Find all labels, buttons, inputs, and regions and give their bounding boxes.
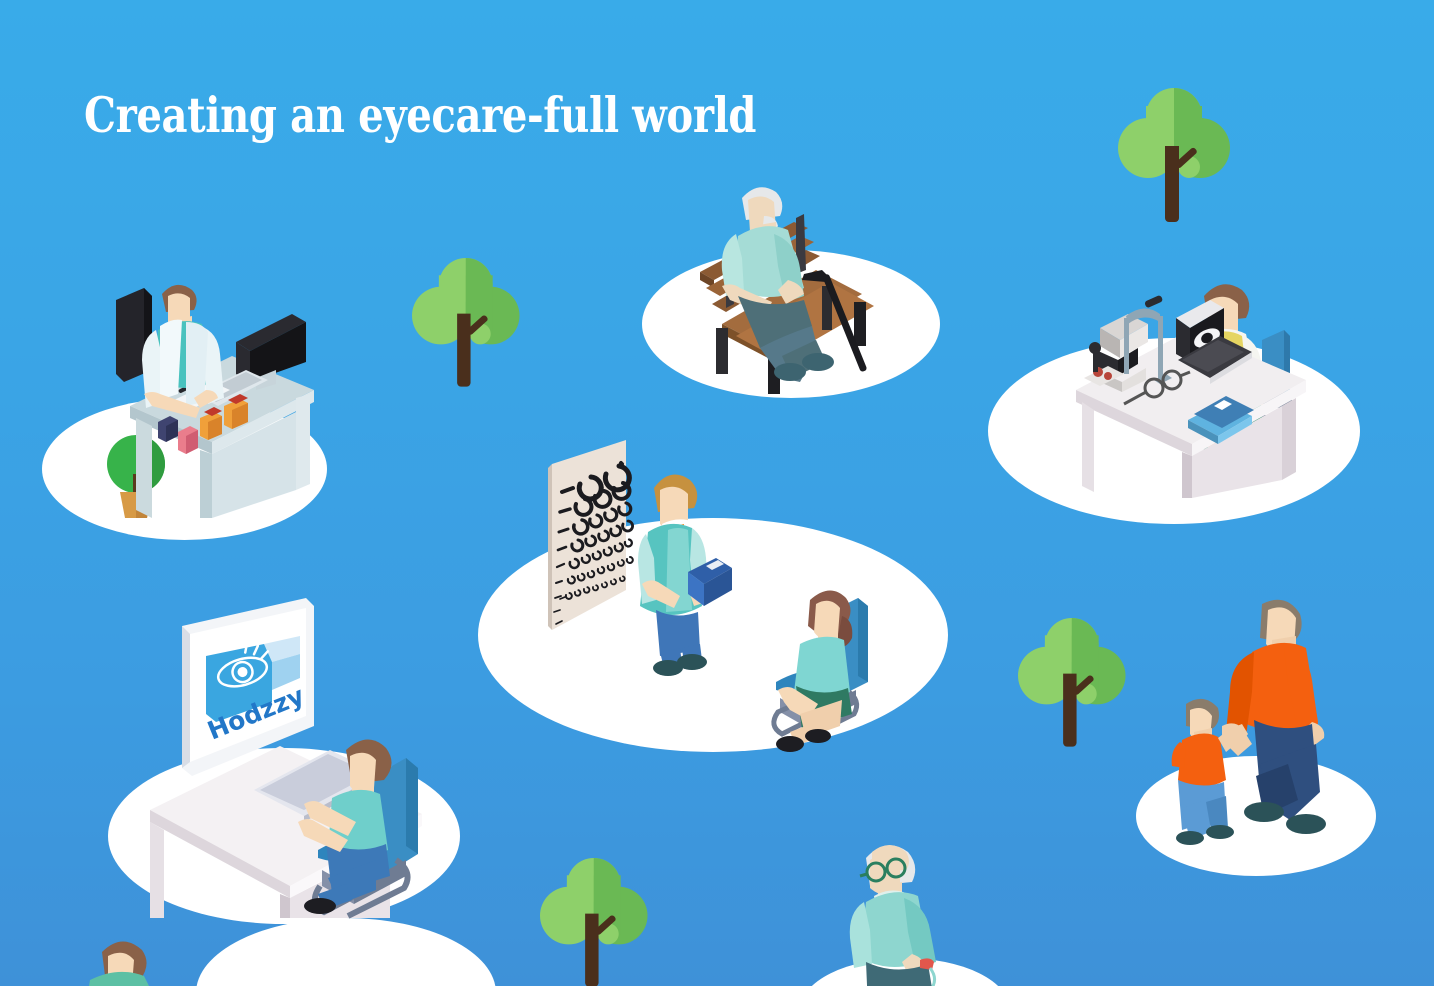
page-title: Creating an eyecare-full world bbox=[84, 86, 756, 144]
seated-patient-group bbox=[750, 586, 890, 756]
seated-patient-art bbox=[750, 586, 890, 756]
elderly-on-bench-art bbox=[676, 176, 906, 386]
tree-trunk bbox=[1063, 674, 1076, 747]
scene-seated-person-bottom bbox=[86, 936, 206, 986]
tree-upper-left bbox=[412, 258, 518, 402]
scene-elderly-on-bench bbox=[676, 176, 906, 386]
seated-person-bottom-art bbox=[86, 936, 206, 986]
adult-figure bbox=[1222, 600, 1326, 834]
tree-bottom-center bbox=[540, 858, 646, 986]
tree-top-right bbox=[1118, 88, 1228, 238]
tree-right-mid bbox=[1018, 618, 1124, 762]
elderly-with-glasses-art bbox=[846, 836, 986, 986]
scene-doctor-office-desk bbox=[100, 278, 340, 518]
father-and-child-art bbox=[1176, 596, 1356, 866]
doctor-office-desk-art bbox=[100, 278, 340, 518]
scene-optometrist-slitlamp bbox=[1062, 272, 1352, 498]
scene-elderly-with-glasses bbox=[846, 836, 986, 986]
illustration-canvas: Creating an eyecare-full world bbox=[0, 0, 1434, 986]
tree-trunk bbox=[457, 314, 470, 387]
optometrist-slitlamp-art bbox=[1062, 272, 1352, 498]
scene-patient-at-computer: Hodzzy bbox=[150, 598, 450, 918]
scene-father-and-child bbox=[1176, 596, 1356, 866]
tree-trunk bbox=[585, 914, 598, 986]
tree-trunk bbox=[1165, 146, 1179, 222]
patient-at-computer-art: Hodzzy bbox=[150, 598, 450, 918]
doctor-with-clipboard bbox=[640, 466, 750, 686]
doctor-with-clipboard-art bbox=[640, 466, 750, 686]
patient-figure bbox=[776, 590, 852, 752]
ground-ellipse-bottom-left bbox=[196, 918, 496, 986]
